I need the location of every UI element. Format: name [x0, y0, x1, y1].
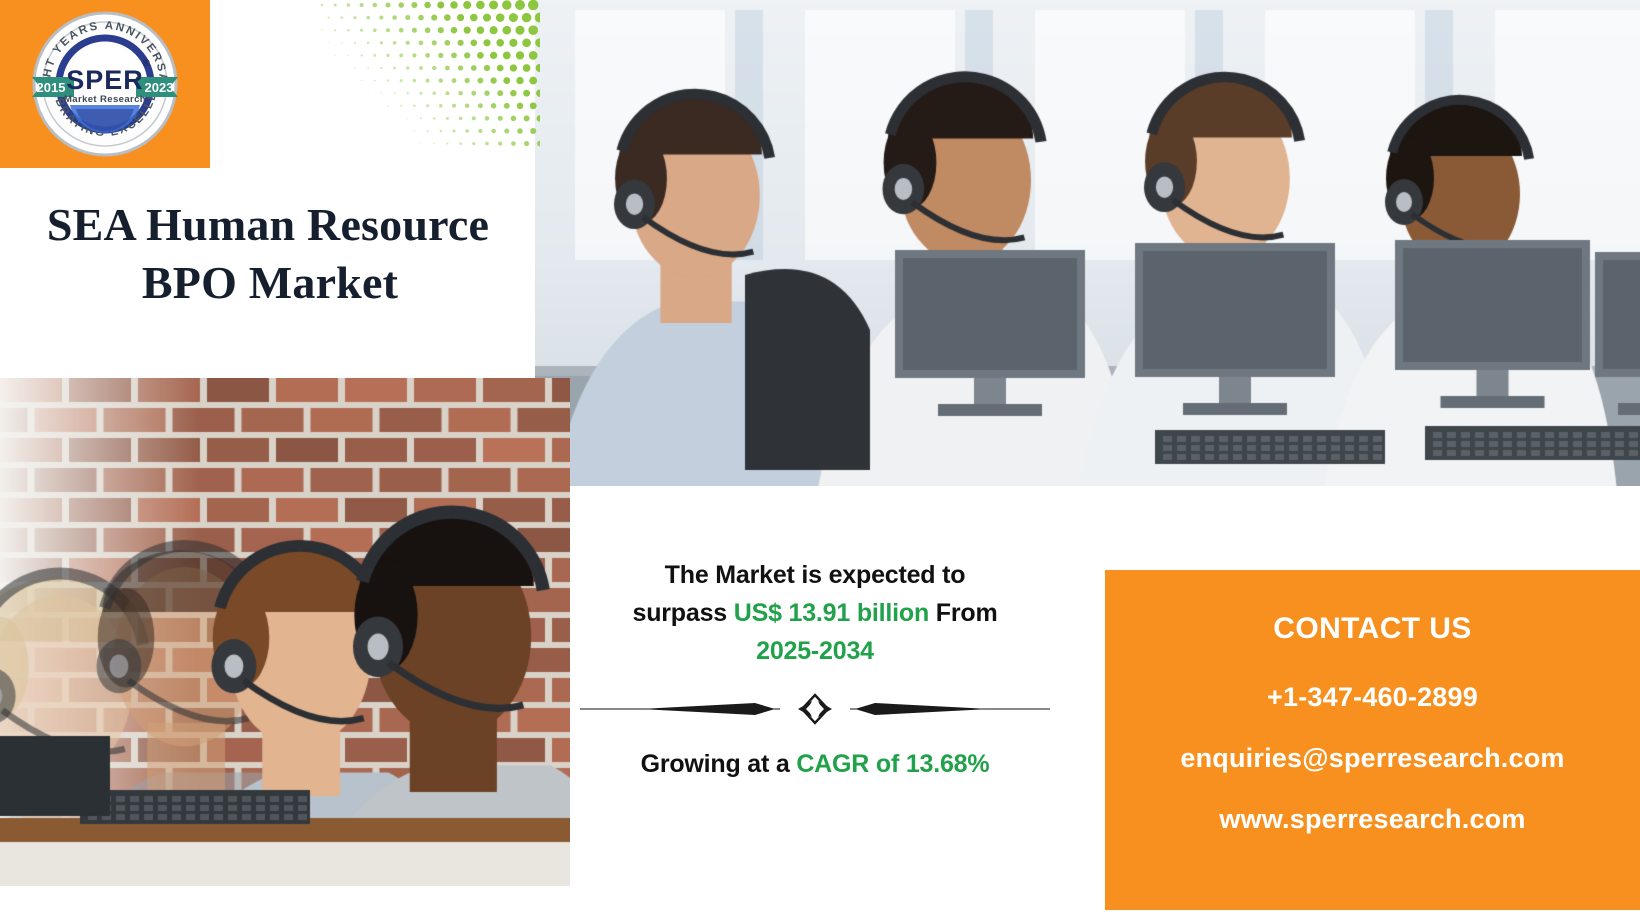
svg-text:Market Research: Market Research	[64, 94, 146, 105]
market-value: US$ 13.91 billion	[734, 599, 929, 627]
market-headline: The Market is expected to surpass US$ 13…	[570, 556, 1060, 670]
headline-part-1: The Market is expected to	[665, 561, 966, 589]
sper-anniversary-seal-icon: EIGHT YEARS ANNIVERSARY CELEBRATING EXCE…	[30, 9, 180, 159]
call-center-photo-top	[535, 0, 1640, 486]
svg-text:2015: 2015	[37, 80, 66, 95]
headline-part-3: From	[929, 599, 997, 627]
svg-text:®: ®	[142, 58, 150, 69]
halftone-dot-decoration	[318, 0, 540, 150]
cagr-prefix: Growing at a	[641, 750, 797, 778]
sper-logo-badge: EIGHT YEARS ANNIVERSARY CELEBRATING EXCE…	[0, 0, 210, 168]
title-line-1: SEA Human Resource	[0, 196, 540, 254]
svg-text:SPER: SPER	[66, 65, 144, 95]
contact-panel: CONTACT US +1-347-460-2899 enquiries@spe…	[1105, 570, 1640, 910]
headline-part-2: surpass	[633, 599, 734, 627]
contact-phone[interactable]: +1-347-460-2899	[1267, 682, 1478, 713]
forecast-period: 2025-2034	[756, 637, 874, 665]
call-center-photo-bottom	[0, 378, 570, 886]
contact-title: CONTACT US	[1273, 612, 1471, 646]
ornamental-diamond-divider	[580, 692, 1050, 726]
market-stats: The Market is expected to surpass US$ 13…	[570, 556, 1060, 779]
svg-text:2023: 2023	[145, 80, 174, 95]
cagr-line: Growing at a CAGR of 13.68%	[570, 750, 1060, 779]
title-line-2: BPO Market	[0, 254, 540, 312]
infographic-banner: EIGHT YEARS ANNIVERSARY CELEBRATING EXCE…	[0, 0, 1640, 924]
contact-website[interactable]: www.sperresearch.com	[1219, 804, 1525, 835]
page-title: SEA Human Resource BPO Market	[0, 196, 540, 312]
cagr-value: CAGR of 13.68%	[796, 750, 989, 778]
contact-email[interactable]: enquiries@sperresearch.com	[1180, 743, 1564, 774]
